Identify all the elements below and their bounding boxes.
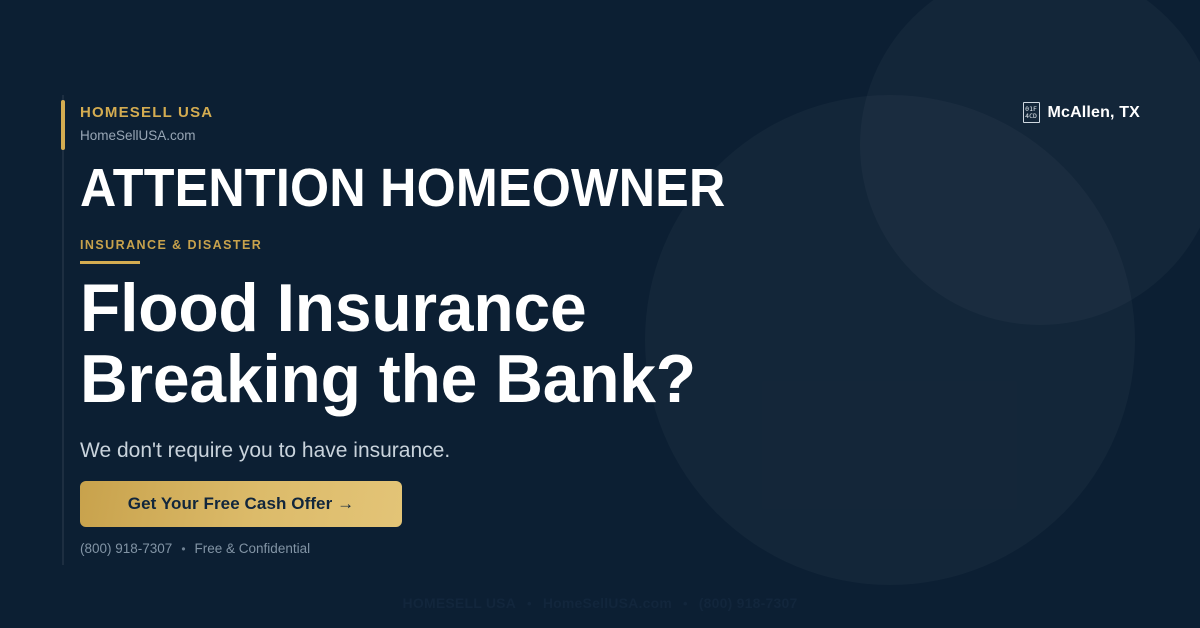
brand-name: HOMESELL USA: [80, 104, 213, 123]
headline-line-2: Breaking the Bank?: [80, 344, 696, 415]
pin-icon-codepoint-bottom: 4CD: [1025, 113, 1037, 120]
ad-creative: HOMESELL USA HomeSellUSA.com 01F 4CD McA…: [0, 0, 1200, 628]
footer-content: HOMESELL USA • HomeSellUSA.com • (800) 9…: [403, 595, 798, 611]
footer-phone: (800) 918-7307: [699, 595, 798, 611]
footer-brand: HOMESELL USA: [403, 595, 517, 611]
location-badge: 01F 4CD McAllen, TX: [1023, 102, 1140, 123]
fineprint-phone: (800) 918-7307: [80, 541, 172, 556]
footer-bar: HOMESELL USA • HomeSellUSA.com • (800) 9…: [0, 578, 1200, 628]
footer-separator-2-icon: •: [683, 596, 688, 611]
get-free-cash-offer-button[interactable]: Get Your Free Cash Offer →: [80, 481, 402, 527]
footer-separator-1-icon: •: [527, 596, 532, 611]
subheadline: We don't require you to have insurance.: [80, 437, 450, 464]
footer-website: HomeSellUSA.com: [543, 595, 672, 611]
page-title: Flood Insurance Breaking the Bank?: [80, 273, 696, 414]
ad-content: HOMESELL USA HomeSellUSA.com 01F 4CD McA…: [0, 0, 1200, 578]
brand-block: HOMESELL USA HomeSellUSA.com: [80, 104, 213, 144]
fineprint-note: Free & Confidential: [195, 541, 311, 556]
attention-headline: ATTENTION HOMEOWNER: [80, 160, 725, 217]
location-label: McAllen, TX: [1048, 104, 1140, 122]
fineprint: (800) 918-7307 • Free & Confidential: [80, 541, 310, 556]
location-pin-icon: 01F 4CD: [1023, 102, 1040, 123]
headline-line-1: Flood Insurance: [80, 273, 696, 344]
eyebrow-underline: [80, 261, 140, 264]
brand-website: HomeSellUSA.com: [80, 128, 213, 144]
eyebrow-label: INSURANCE & DISASTER: [80, 238, 262, 252]
fineprint-separator-icon: •: [181, 542, 185, 556]
